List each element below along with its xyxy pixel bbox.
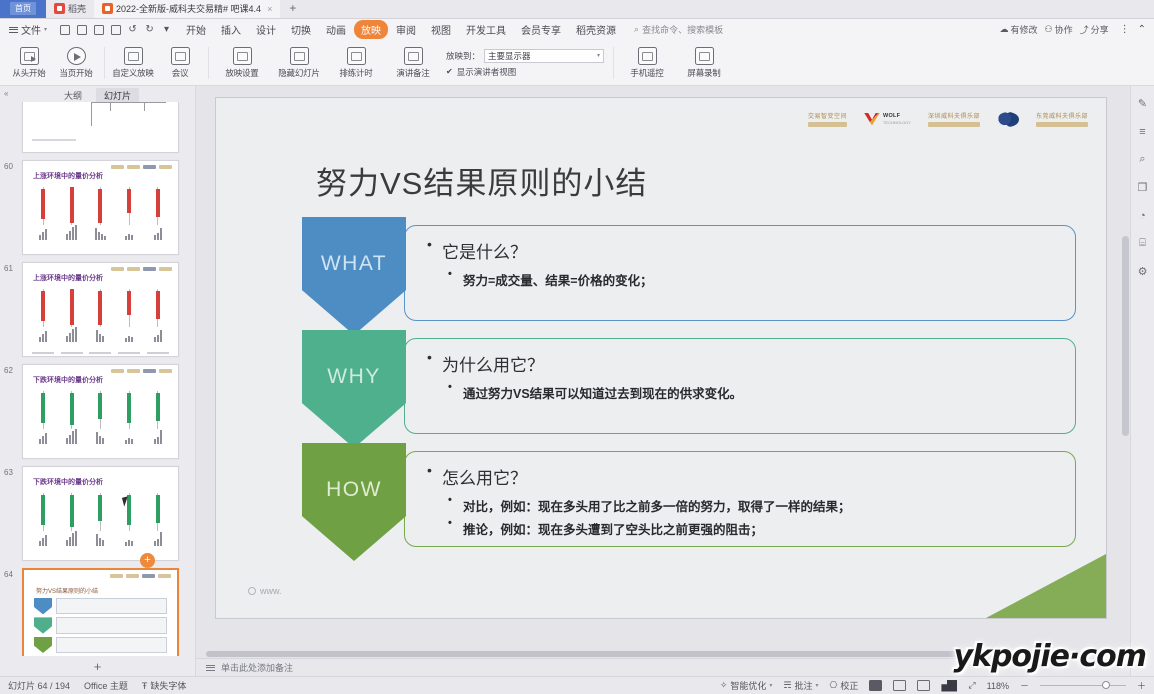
slide-thumbnail[interactable] — [22, 102, 179, 153]
zoom-in-button[interactable]: ＋ — [1137, 679, 1146, 692]
window-controls: ⋮ ⌃ — [1116, 24, 1146, 35]
smart-optimize-label: 智能优化 — [730, 679, 766, 692]
menu-hamburger-icon — [9, 27, 18, 33]
wps-presentation-window: 首页 稻壳 2022-全新版-威科夫交易精# 吧课4.4 × + 文件 ▾ ↺ … — [0, 0, 1154, 694]
section-why[interactable]: WHY 为什么用它？ 通过努力VS结果可以知道过去到现在的供求变化。 — [302, 338, 1076, 434]
normal-view-button[interactable] — [869, 680, 882, 691]
presenter-view-label: 显示演讲者视图 — [457, 66, 517, 78]
save-cloud-icon[interactable]: ⌸ — [1135, 236, 1150, 251]
ribbon-tab-insert[interactable]: 插入 — [214, 20, 248, 39]
slide-footer-www-label: www. — [260, 586, 282, 596]
thumbnail-title: 上涨环境中的量价分析 — [33, 273, 103, 283]
zoom-level-label: 118% — [987, 681, 1009, 691]
phone-remote-label: 手机遥控 — [630, 67, 663, 79]
ribbon-right-actions: ☁ 有修改 ⚇ 协作 ⤴ 分享 ⋮ ⌃ — [999, 23, 1150, 36]
thumbnail-title: 努力VS结果原则的小结 — [36, 586, 98, 595]
chevron-what-label: WHAT — [321, 252, 387, 276]
close-tab-icon[interactable]: × — [267, 4, 272, 14]
question-why: 为什么用它？ — [427, 351, 1075, 376]
ribbon-divider — [613, 47, 614, 79]
sliders-icon[interactable]: ≡ — [1135, 124, 1150, 139]
slide-thumbnail[interactable]: 上涨环境中的量价分析 — [22, 262, 179, 357]
candlestick-graphic — [29, 493, 172, 533]
presenter-view-checkbox[interactable]: ✔ 显示演讲者视图 — [446, 66, 604, 78]
monitor-select[interactable]: 主要显示器 ▾ — [484, 49, 604, 63]
meeting-label: 会议 — [172, 67, 189, 79]
logo-panda — [997, 112, 1019, 127]
bullet-what-1: 努力=成交量、结果=价格的变化； — [427, 270, 1075, 289]
zoom-out-button[interactable]: － — [1020, 679, 1029, 692]
share-icon: ⤴ — [1080, 23, 1089, 36]
hide-slide-button[interactable]: 隐藏幻灯片 — [271, 47, 327, 79]
volume-bars-graphic — [29, 530, 172, 546]
cloud-icon: ☁ — [999, 24, 1008, 35]
zoom-slider[interactable] — [1040, 685, 1126, 687]
panda-mark-icon — [997, 112, 1019, 127]
chevron-down-icon: ▾ — [816, 682, 819, 689]
thumbnail-logos — [111, 369, 172, 373]
slide-thumbnail-selected[interactable]: 努力VS结果原则的小结 — [22, 568, 179, 656]
home-tab[interactable]: 首页 — [0, 0, 46, 18]
globe-icon — [248, 587, 256, 595]
bullet-why-1-text: 通过努力VS结果可以知道过去到现在的供求变化。 — [463, 387, 742, 401]
slide-thumbnail[interactable]: 下跌环境中的量价分析 — [22, 364, 179, 459]
command-search-placeholder: 查找命令、搜索模板 — [642, 23, 723, 36]
candlestick-graphic — [29, 391, 172, 431]
smart-optimize-button[interactable]: ✧ 智能优化 ▾ — [720, 679, 773, 692]
meeting-icon — [171, 47, 190, 65]
print-icon[interactable] — [91, 22, 106, 37]
history-icon[interactable]: ◔ — [1135, 208, 1150, 223]
collaborate-label: 协作 — [1055, 23, 1073, 36]
start-from-current-label: 当页开始 — [59, 67, 92, 79]
search-icon: ⌕ — [634, 24, 639, 35]
section-how[interactable]: HOW 怎么用它？ 对比，例如：现在多头用了比之前多一倍的努力，取得了一样的结果… — [302, 451, 1076, 547]
bullet-how-2: 推论，例如：现在多头遭到了空头比之前更强的阻击； — [427, 519, 1075, 538]
thumbnail-logos — [111, 267, 172, 271]
collapse-ribbon-icon[interactable]: ⌃ — [1138, 24, 1146, 35]
thumbnail-diagram — [34, 598, 167, 653]
comment-button[interactable]: ☴ 批注 ▾ — [783, 679, 818, 692]
bullet-how-1: 对比，例如：现在多头用了比之前多一倍的努力，取得了一样的结果； — [427, 496, 1075, 515]
file-menu-button[interactable]: 文件 ▾ — [4, 22, 52, 37]
proof-icon: ⎔ — [830, 680, 838, 691]
add-slide-badge[interactable]: + — [140, 553, 155, 568]
slide-title[interactable]: 努力VS结果原则的小结 — [316, 158, 647, 203]
slide-sorter-button[interactable] — [893, 680, 906, 691]
more-options-icon[interactable]: ⋮ — [1120, 24, 1130, 35]
thumbnail-captions — [29, 352, 172, 354]
document-tab-label-active: 2022-全新版-威科夫交易精# 吧课4.4 — [116, 2, 261, 15]
rehearse-timing-button[interactable]: 排练计时 — [328, 47, 384, 79]
comment-label: 批注 — [795, 679, 813, 692]
logo-underbar — [1036, 122, 1088, 127]
logo-dongguan: 东莞威科夫俱乐部 — [1036, 111, 1088, 127]
panel-what[interactable]: 它是什么？ 努力=成交量、结果=价格的变化； — [404, 225, 1076, 321]
thumbnail-item[interactable]: 63 下跌环境中的量价分析 — [22, 466, 179, 561]
thumbnail-title: 下跌环境中的量价分析 — [33, 477, 103, 487]
ribbon-tab-transition[interactable]: 切换 — [284, 20, 318, 39]
quick-access-toolbar: ↺ ↻ ▾ — [53, 22, 178, 37]
feather-icon[interactable]: ✎ — [1135, 96, 1150, 111]
print-preview-icon[interactable] — [108, 22, 123, 37]
bullet-why-1: 通过努力VS结果可以知道过去到现在的供求变化。 — [427, 383, 1075, 402]
navigator-tabs: 大纲 幻灯片 — [0, 86, 195, 102]
slide-counter: 幻灯片 64 / 194 — [8, 679, 70, 692]
chevron-how: HOW — [302, 451, 406, 547]
volume-bars-graphic — [29, 428, 172, 444]
thumbnail-logos — [110, 574, 171, 578]
thumbnail-title: 上涨环境中的量价分析 — [33, 171, 103, 181]
chevron-why-label: WHY — [327, 365, 381, 389]
candlestick-graphic — [29, 289, 172, 329]
presenter-notes-label: 演讲备注 — [396, 67, 429, 79]
slide-sections: WHAT 它是什么？ 努力=成交量、结果=价格的变化； WHY — [302, 225, 1076, 547]
read-mode-icon[interactable] — [941, 680, 957, 692]
start-from-beginning-button[interactable]: 从头开始 — [6, 47, 52, 79]
rehearse-timing-label: 排练计时 — [339, 67, 372, 79]
proof-label: 校正 — [840, 679, 858, 692]
show-settings-icon — [233, 47, 252, 65]
slide-navigator-pane: « 大纲 幻灯片 60 — [0, 86, 196, 676]
volume-bars-graphic — [29, 326, 172, 342]
save-icon[interactable] — [57, 22, 72, 37]
logo-wolf-text: WOLFTECHNOLOGY — [883, 113, 911, 125]
phone-remote-icon — [638, 47, 657, 65]
vscroll-thumb[interactable] — [1122, 236, 1129, 436]
add-slide-button[interactable]: + — [0, 656, 195, 676]
slide-footer-www: www. — [248, 586, 282, 596]
new-tab-button[interactable]: + — [280, 0, 305, 18]
section-what[interactable]: WHAT 它是什么？ 努力=成交量、结果=价格的变化； — [302, 225, 1076, 321]
candlestick-graphic — [29, 187, 172, 227]
slide-thumbnail[interactable]: 下跌环境中的量价分析 — [22, 466, 179, 561]
ribbon-divider — [104, 47, 105, 79]
cloud-status-button[interactable]: ☁ 有修改 — [999, 23, 1037, 36]
logo-shenzhen-label: 深圳威科夫俱乐部 — [928, 111, 980, 120]
slide-thumbnail[interactable]: 上涨环境中的量价分析 — [22, 160, 179, 255]
reading-view-button[interactable] — [917, 680, 930, 691]
ribbon-tab-resources[interactable]: 稻壳资源 — [569, 20, 623, 39]
presenter-notes-icon — [404, 47, 423, 65]
hscroll-thumb[interactable] — [206, 651, 1007, 657]
ribbon-slideshow-group: 从头开始 当页开始 自定义放映 会议 放映设置 隐藏幻灯片 排练计时 — [0, 40, 1154, 86]
font-status-label: 缺失字体 — [150, 679, 186, 692]
logo-jiaoyi-label: 交易智变空间 — [808, 111, 847, 120]
theme-label[interactable]: Office 主题 — [84, 679, 128, 692]
thumbnail-item-selected[interactable]: 64 努力VS结果原则的小结 — [22, 568, 179, 656]
monitor-label: 放映到： — [446, 50, 480, 62]
volume-bars-graphic — [29, 224, 172, 240]
comment-icon: ☴ — [783, 680, 791, 691]
proof-button[interactable]: ⎔ 校正 — [830, 679, 859, 692]
ribbon-tab-bar: 文件 ▾ ↺ ↻ ▾ 开始 插入 设计 切换 动画 放映 审阅 视图 开发工具 … — [0, 19, 1154, 40]
show-settings-button[interactable]: 放映设置 — [214, 47, 270, 79]
notes-placeholder: 单击此处添加备注 — [221, 661, 293, 674]
share-button[interactable]: ⤴ 分享 — [1080, 23, 1109, 36]
chevron-how-label: HOW — [326, 478, 382, 502]
status-bar: 幻灯片 64 / 194 Office 主题 Ŧ 缺失字体 ✧ 智能优化 ▾ ☴… — [0, 676, 1154, 694]
status-bar-right: ✧ 智能优化 ▾ ☴ 批注 ▾ ⎔ 校正 ⤢ 118% － ＋ — [720, 679, 1146, 692]
more-commands-icon[interactable]: ▾ — [159, 22, 174, 37]
ribbon-tab-design[interactable]: 设计 — [249, 20, 283, 39]
notes-icon — [206, 665, 215, 671]
screen-record-icon — [695, 47, 714, 65]
logo-underbar — [808, 122, 847, 127]
redo-icon[interactable]: ↻ — [142, 22, 157, 37]
start-from-current-icon — [67, 47, 86, 65]
panel-why[interactable]: 为什么用它？ 通过努力VS结果可以知道过去到现在的供求变化。 — [404, 338, 1076, 434]
collaborate-button[interactable]: ⚇ 协作 — [1044, 23, 1072, 36]
ribbon-tab-animation[interactable]: 动画 — [319, 20, 353, 39]
collapse-pane-icon[interactable]: « — [4, 89, 8, 98]
pdf-file-icon — [54, 3, 65, 14]
meeting-button[interactable]: 会议 — [157, 47, 203, 79]
ppt-file-icon — [102, 3, 113, 14]
fit-to-window-icon[interactable]: ⤢ — [968, 680, 975, 691]
phone-remote-button[interactable]: 手机遥控 — [619, 47, 675, 79]
chevron-down-icon: ▾ — [44, 26, 47, 33]
document-tab-label: 稻壳 — [68, 2, 86, 15]
screen-record-label: 屏幕录制 — [687, 67, 720, 79]
start-from-beginning-icon — [20, 47, 39, 65]
chevron-what: WHAT — [302, 225, 406, 321]
magic-icon: ✧ — [720, 680, 728, 691]
logo-shenzhen: 深圳威科夫俱乐部 — [928, 111, 980, 127]
ribbon-tab-member[interactable]: 会员专享 — [514, 20, 568, 39]
custom-show-icon — [124, 47, 143, 65]
font-icon: Ŧ — [142, 681, 148, 691]
search-doc-icon[interactable]: ⌕ — [1135, 152, 1150, 167]
custom-show-label: 自定义放映 — [112, 67, 154, 79]
thumbnail-title: 下跌环境中的量价分析 — [33, 375, 103, 385]
ribbon-tab-view[interactable]: 视图 — [424, 20, 458, 39]
monitor-select-value: 主要显示器 — [488, 50, 531, 62]
ribbon-tab-review[interactable]: 审阅 — [389, 20, 423, 39]
people-icon: ⚇ — [1044, 24, 1052, 35]
show-settings-label: 放映设置 — [225, 67, 258, 79]
logo-dongguan-label: 东莞威科夫俱乐部 — [1036, 111, 1088, 120]
thumbnail-item[interactable]: 61 上涨环境中的量价分析 — [22, 262, 179, 357]
logo-wolf: WOLFTECHNOLOGY — [864, 113, 911, 126]
tab-outline[interactable]: 大纲 — [56, 88, 90, 103]
ribbon-tab-devtools[interactable]: 开发工具 — [459, 20, 513, 39]
checkmark-icon: ✔ — [446, 67, 453, 76]
hide-slide-icon — [290, 47, 309, 65]
slide-corner-decoration — [986, 554, 1106, 618]
zoom-slider-knob[interactable] — [1102, 681, 1110, 689]
save-as-icon[interactable] — [74, 22, 89, 37]
chevron-down-icon: ▾ — [597, 52, 600, 59]
undo-icon[interactable]: ↺ — [125, 22, 140, 37]
start-from-current-button[interactable]: 当页开始 — [53, 47, 99, 79]
ribbon-tab-slideshow[interactable]: 放映 — [354, 20, 388, 39]
hide-slide-label: 隐藏幻灯片 — [278, 67, 320, 79]
presenter-notes-button[interactable]: 演讲备注 — [385, 47, 441, 79]
chevron-down-icon: ▾ — [769, 682, 772, 689]
slide-edit-area: 交易智变空间 WOLFTECHNOLOGY 深圳威科夫俱乐部 — [196, 86, 1130, 676]
document-tab-active[interactable]: 2022-全新版-威科夫交易精# 吧课4.4 × — [94, 0, 280, 18]
window-title-bar: 首页 稻壳 2022-全新版-威科夫交易精# 吧课4.4 × + — [0, 0, 1154, 19]
logo-underbar — [928, 122, 980, 127]
panel-how[interactable]: 怎么用它？ 对比，例如：现在多头用了比之前多一倍的努力，取得了一样的结果； 推论… — [404, 451, 1076, 547]
thumbnail-list[interactable]: 60 上涨环境中的量价分析 — [0, 102, 195, 656]
ribbon-tab-start[interactable]: 开始 — [179, 20, 213, 39]
thumbnail-number: 63 — [4, 468, 13, 477]
thumbnail-logos — [111, 165, 172, 169]
thumbnail-item[interactable]: 60 上涨环境中的量价分析 — [22, 160, 179, 255]
current-slide[interactable]: 交易智变空间 WOLFTECHNOLOGY 深圳威科夫俱乐部 — [215, 97, 1107, 619]
thumbnail-number: 61 — [4, 264, 13, 273]
slide-canvas[interactable]: 交易智变空间 WOLFTECHNOLOGY 深圳威科夫俱乐部 — [196, 86, 1130, 649]
file-menu-label: 文件 — [21, 22, 41, 37]
monitor-settings-group: 放映到： 主要显示器 ▾ ✔ 显示演讲者视图 — [442, 49, 608, 78]
font-status[interactable]: Ŧ 缺失字体 — [142, 679, 187, 692]
logo-jiaoyi: 交易智变空间 — [808, 111, 847, 127]
cloud-status-label: 有修改 — [1010, 23, 1037, 36]
question-how: 怎么用它？ — [427, 464, 1075, 489]
vertical-scrollbar[interactable] — [1122, 236, 1129, 436]
document-tab-daoke[interactable]: 稻壳 — [46, 0, 94, 18]
copy-icon[interactable]: ❐ — [1135, 180, 1150, 195]
right-tool-rail: ✎ ≡ ⌕ ❐ ◔ ⌸ ⚙ — [1130, 86, 1154, 676]
ribbon-divider — [208, 47, 209, 79]
thumbnail-number: 64 — [4, 570, 13, 579]
chevron-why: WHY — [302, 338, 406, 434]
rehearse-timing-icon — [347, 47, 366, 65]
settings-icon[interactable]: ⚙ — [1135, 264, 1150, 279]
question-what: 它是什么？ — [427, 238, 1075, 263]
slide-logo-strip: 交易智变空间 WOLFTECHNOLOGY 深圳威科夫俱乐部 — [808, 111, 1088, 127]
start-from-beginning-label: 从头开始 — [12, 67, 45, 79]
command-search-box[interactable]: ⌕ 查找命令、搜索模板 — [634, 23, 723, 36]
thumbnail-number: 60 — [4, 162, 13, 171]
monitor-row: 放映到： 主要显示器 ▾ — [446, 49, 604, 63]
thumbnail-number: 62 — [4, 366, 13, 375]
tab-slides[interactable]: 幻灯片 — [96, 88, 139, 103]
watermark: ykpojie·com — [953, 639, 1146, 674]
editor-body: « 大纲 幻灯片 60 — [0, 86, 1154, 676]
custom-show-button[interactable]: 自定义放映 — [110, 47, 156, 79]
thumbnail-item[interactable]: 62 下跌环境中的量价分析 — [22, 364, 179, 459]
wolf-mark-icon — [864, 113, 880, 126]
screen-record-button[interactable]: 屏幕录制 — [676, 47, 732, 79]
share-label: 分享 — [1091, 23, 1109, 36]
home-tab-label: 首页 — [10, 2, 36, 15]
thumbnail-item[interactable] — [22, 102, 179, 153]
